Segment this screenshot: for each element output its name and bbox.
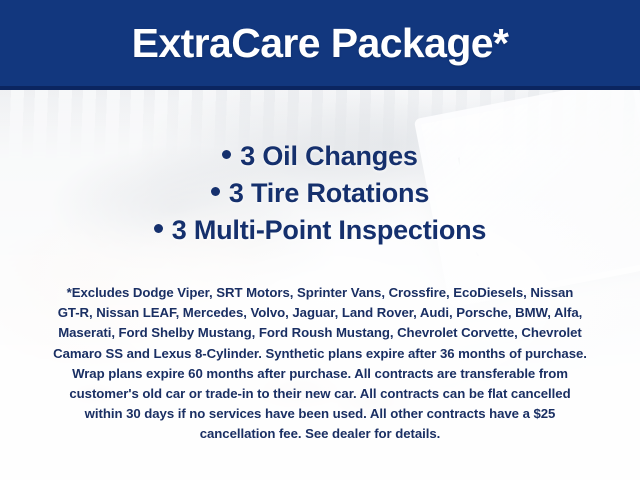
extracare-package-ad: ExtraCare Package* 3 Oil Changes 3 Tire … <box>0 0 640 480</box>
disclaimer-line: Maserati, Ford Shelby Mustang, Ford Rous… <box>22 323 618 343</box>
benefit-label: 3 Multi-Point Inspections <box>172 215 487 245</box>
benefit-item: 3 Multi-Point Inspections <box>0 212 640 249</box>
disclaimer-line: GT-R, Nissan LEAF, Mercedes, Volvo, Jagu… <box>22 303 618 323</box>
disclaimer-line: within 30 days if no services have been … <box>22 404 618 424</box>
header-divider <box>0 86 640 90</box>
page-title: ExtraCare Package* <box>0 0 640 86</box>
disclaimer-line: cancellation fee. See dealer for details… <box>22 424 618 444</box>
benefits-list: 3 Oil Changes 3 Tire Rotations 3 Multi-P… <box>0 138 640 249</box>
header-bar: ExtraCare Package* <box>0 0 640 90</box>
disclaimer-line: Wrap plans expire 60 months after purcha… <box>22 364 618 384</box>
benefit-label: 3 Tire Rotations <box>229 178 429 208</box>
bullet-dot-icon <box>222 150 231 159</box>
bullet-dot-icon <box>211 187 220 196</box>
disclaimer-line: customer's old car or trade-in to their … <box>22 384 618 404</box>
benefit-item: 3 Oil Changes <box>0 138 640 175</box>
disclaimer-text: *Excludes Dodge Viper, SRT Motors, Sprin… <box>22 283 618 445</box>
disclaimer-line: Camaro SS and Lexus 8-Cylinder. Syntheti… <box>22 344 618 364</box>
bullet-dot-icon <box>154 224 163 233</box>
benefit-label: 3 Oil Changes <box>240 141 417 171</box>
disclaimer-line: *Excludes Dodge Viper, SRT Motors, Sprin… <box>22 283 618 303</box>
benefit-item: 3 Tire Rotations <box>0 175 640 212</box>
